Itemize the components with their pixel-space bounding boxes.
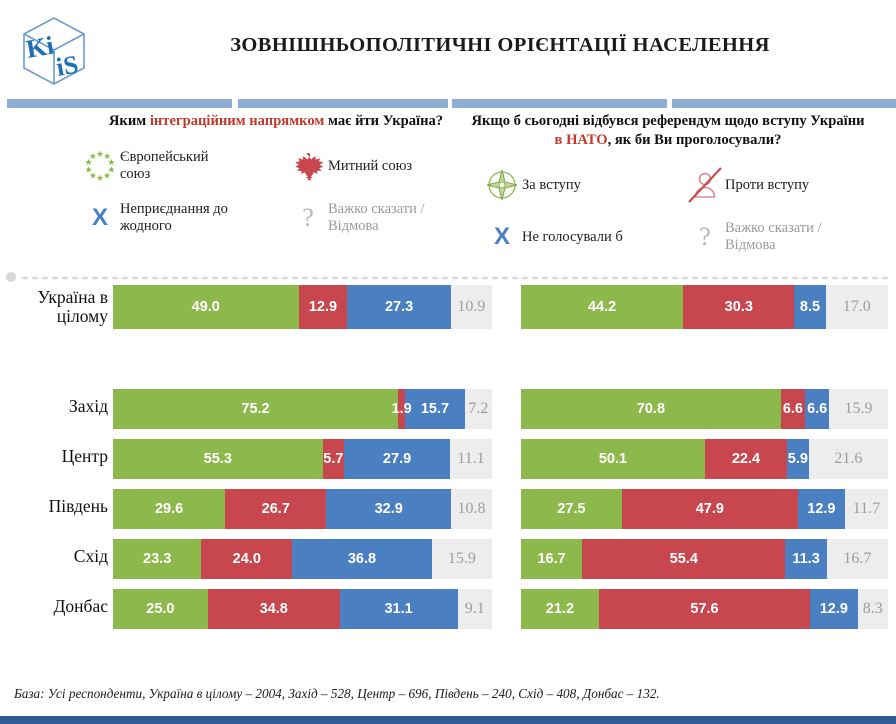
bar-value-label: 11.1 bbox=[457, 450, 484, 468]
bar-value-label: 57.6 bbox=[690, 601, 718, 617]
bar-segment-blue: 5.9 bbox=[787, 439, 809, 479]
bar-value-label: 17.0 bbox=[843, 298, 871, 316]
bar-value-label: 55.3 bbox=[204, 451, 232, 467]
bar-value-label: 10.8 bbox=[458, 500, 486, 518]
bar-segment-gray: 7.2 bbox=[465, 389, 492, 429]
bar-value-label: 34.8 bbox=[260, 601, 288, 617]
bar-segment-red: 12.9 bbox=[299, 285, 348, 329]
legend-label: За вступу bbox=[522, 177, 581, 194]
bar-segment-red: 6.6 bbox=[781, 389, 805, 429]
bar-segment-red: 47.9 bbox=[622, 489, 798, 529]
bar-segment-blue: 31.1 bbox=[340, 589, 458, 629]
bar-value-label: 55.4 bbox=[670, 551, 698, 567]
bar-segment-red: 24.0 bbox=[201, 539, 292, 579]
bar-segment-red: 30.3 bbox=[683, 285, 794, 329]
svg-text:iS: iS bbox=[54, 50, 80, 82]
legend-item-x-mark: XНеприєднання до жодного bbox=[80, 197, 288, 239]
x-mark-icon: X bbox=[482, 216, 522, 258]
band-segment-4 bbox=[672, 99, 896, 108]
legend-item-x-mark: XНе голосували б bbox=[482, 216, 685, 258]
bar-segment-blue: 27.3 bbox=[347, 285, 450, 329]
bar-segment-gray: 9.1 bbox=[458, 589, 492, 629]
bar-value-label: 47.9 bbox=[696, 501, 724, 517]
stacked-bar-right: 21.257.612.98.3 bbox=[521, 589, 888, 629]
bar-value-label: 11.3 bbox=[792, 551, 819, 567]
bar-segment-blue: 12.9 bbox=[810, 589, 857, 629]
bar-segment-blue: 27.9 bbox=[344, 439, 450, 479]
bar-value-label: 1.9 bbox=[392, 401, 412, 417]
bar-value-label: 27.3 bbox=[385, 299, 413, 315]
bar-value-label: 21.6 bbox=[834, 450, 862, 468]
bar-value-label: 5.9 bbox=[788, 451, 808, 467]
russian-eagle-icon bbox=[288, 145, 328, 187]
bar-value-label: 27.5 bbox=[557, 501, 585, 517]
bar-segment-red: 55.4 bbox=[582, 539, 785, 579]
bar-segment-blue: 6.6 bbox=[805, 389, 829, 429]
bar-segment-green: 50.1 bbox=[521, 439, 705, 479]
legend-label: Неприєднання до жодного bbox=[120, 201, 240, 235]
bar-segment-gray: 11.1 bbox=[450, 439, 492, 479]
bar-segment-green: 21.2 bbox=[521, 589, 599, 629]
band-segment-2 bbox=[238, 99, 448, 108]
bar-segment-green: 55.3 bbox=[113, 439, 323, 479]
bar-value-label: 15.7 bbox=[421, 401, 449, 417]
row-label: Донбас bbox=[0, 597, 108, 616]
legend-nato: За вступуПроти вступуXНе голосували б?Ва… bbox=[448, 164, 888, 258]
legend-integration: Європейський союзМитний союзXНеприєднанн… bbox=[56, 145, 496, 239]
bar-value-label: 75.2 bbox=[241, 401, 269, 417]
bar-segment-red: 26.7 bbox=[225, 489, 326, 529]
divider-dots bbox=[20, 276, 890, 280]
bar-value-label: 22.4 bbox=[732, 451, 760, 467]
bar-value-label: 10.9 bbox=[457, 298, 485, 316]
row-label: Південь bbox=[0, 497, 108, 516]
legend-item-nato-compass: За вступу bbox=[482, 164, 685, 206]
stacked-bar-right: 27.547.912.911.7 bbox=[521, 489, 888, 529]
bar-segment-red: 34.8 bbox=[208, 589, 340, 629]
bar-segment-gray: 8.3 bbox=[858, 589, 888, 629]
question-plain-2: має йти Україна? bbox=[324, 113, 443, 129]
decorative-band bbox=[0, 99, 896, 108]
bar-value-label: 32.9 bbox=[375, 501, 403, 517]
page-header: Ki iS ЗОВНІШНЬОПОЛІТИЧНІ ОРІЄНТАЦІЇ НАСЕ… bbox=[0, 0, 896, 96]
legend-label: Проти вступу bbox=[725, 177, 809, 194]
x-mark-icon: X bbox=[80, 197, 120, 239]
bar-segment-red: 1.9 bbox=[398, 389, 405, 429]
bar-value-label: 12.9 bbox=[309, 299, 337, 315]
eu-stars-icon bbox=[80, 145, 120, 187]
chart-row: Донбас25.034.831.19.121.257.612.98.3 bbox=[0, 584, 896, 634]
stacked-bar-left: 29.626.732.910.8 bbox=[113, 489, 492, 529]
bar-value-label: 29.6 bbox=[155, 501, 183, 517]
legend-label: Не голосували б bbox=[522, 229, 623, 246]
bar-segment-red: 5.7 bbox=[323, 439, 345, 479]
row-label: Центр bbox=[0, 447, 108, 466]
chart-row: Захід75.21.915.77.270.86.66.615.9 bbox=[0, 384, 896, 434]
bar-segment-green: 27.5 bbox=[521, 489, 622, 529]
legend-label: Європейський союз bbox=[120, 149, 240, 183]
question-highlight: в НАТО bbox=[555, 132, 608, 148]
question-mark-icon: ? bbox=[685, 216, 725, 258]
chart-row: Схід23.324.036.815.916.755.411.316.7 bbox=[0, 534, 896, 584]
bar-segment-gray: 15.9 bbox=[829, 389, 887, 429]
bar-segment-green: 49.0 bbox=[113, 285, 299, 329]
bar-value-label: 16.7 bbox=[537, 551, 565, 567]
bar-segment-gray: 21.6 bbox=[809, 439, 888, 479]
footnote: База: Усі респонденти, Україна в цілому … bbox=[14, 686, 884, 702]
bar-value-label: 36.8 bbox=[348, 551, 376, 567]
question-highlight: інтеграційним напрямком bbox=[150, 113, 324, 129]
bottom-bar bbox=[0, 716, 896, 724]
bar-value-label: 27.9 bbox=[383, 451, 411, 467]
legend-label: Важко сказати / Відмова bbox=[725, 220, 845, 254]
bar-value-label: 12.9 bbox=[820, 601, 848, 617]
stacked-bar-right: 44.230.38.517.0 bbox=[521, 285, 888, 329]
row-label: Схід bbox=[0, 547, 108, 566]
bar-segment-red: 22.4 bbox=[705, 439, 787, 479]
bar-value-label: 15.9 bbox=[448, 550, 476, 568]
bar-value-label: 23.3 bbox=[143, 551, 171, 567]
legend-item-eu-stars: Європейський союз bbox=[80, 145, 288, 187]
bar-value-label: 8.3 bbox=[863, 600, 883, 618]
bar-segment-green: 44.2 bbox=[521, 285, 683, 329]
bar-segment-gray: 10.9 bbox=[451, 285, 492, 329]
bar-segment-green: 16.7 bbox=[521, 539, 582, 579]
bar-value-label: 31.1 bbox=[384, 601, 412, 617]
bar-segment-green: 75.2 bbox=[113, 389, 398, 429]
row-spacer bbox=[0, 334, 896, 384]
bar-segment-blue: 12.9 bbox=[798, 489, 845, 529]
crossed-out-person-icon bbox=[685, 164, 725, 206]
bar-value-label: 49.0 bbox=[192, 299, 220, 315]
kiis-logo: Ki iS bbox=[12, 14, 96, 88]
page-title: ЗОВНІШНЬОПОЛІТИЧНІ ОРІЄНТАЦІЇ НАСЕЛЕННЯ bbox=[150, 34, 850, 57]
bar-segment-blue: 32.9 bbox=[326, 489, 451, 529]
chart-row: Центр55.35.727.911.150.122.45.921.6 bbox=[0, 434, 896, 484]
stacked-bar-left: 55.35.727.911.1 bbox=[113, 439, 492, 479]
question-plain-0: Якщо б сьогодні відбувся референдум щодо… bbox=[471, 113, 864, 129]
bar-segment-green: 25.0 bbox=[113, 589, 208, 629]
bar-value-label: 8.5 bbox=[800, 299, 820, 315]
bar-value-label: 26.7 bbox=[262, 501, 290, 517]
bar-segment-green: 70.8 bbox=[521, 389, 781, 429]
row-label: Україна в цілому bbox=[0, 288, 108, 326]
band-segment-1 bbox=[7, 99, 232, 108]
bar-segment-gray: 16.7 bbox=[827, 539, 888, 579]
bar-segment-gray: 11.7 bbox=[845, 489, 888, 529]
bar-segment-gray: 15.9 bbox=[432, 539, 492, 579]
bar-value-label: 5.7 bbox=[323, 451, 343, 467]
chart-area: Україна в цілому49.012.927.310.944.230.3… bbox=[0, 282, 896, 634]
question-plain-2: , як би Ви проголосували? bbox=[608, 132, 782, 148]
section-divider bbox=[6, 272, 890, 282]
panel-nato: Якщо б сьогодні відбувся референдум щодо… bbox=[448, 112, 888, 258]
chart-row: Україна в цілому49.012.927.310.944.230.3… bbox=[0, 282, 896, 334]
stacked-bar-left: 23.324.036.815.9 bbox=[113, 539, 492, 579]
bar-segment-green: 29.6 bbox=[113, 489, 225, 529]
bar-segment-green: 23.3 bbox=[113, 539, 201, 579]
row-label: Захід bbox=[0, 397, 108, 416]
nato-compass-icon bbox=[482, 164, 522, 206]
bar-value-label: 30.3 bbox=[725, 299, 753, 315]
legend-item-question-mark: ?Важко сказати / Відмова bbox=[685, 216, 888, 258]
stacked-bar-right: 50.122.45.921.6 bbox=[521, 439, 888, 479]
bar-segment-gray: 10.8 bbox=[451, 489, 492, 529]
stacked-bar-left: 75.21.915.77.2 bbox=[113, 389, 492, 429]
legend-label: Митний союз bbox=[328, 158, 412, 175]
stacked-bar-right: 70.86.66.615.9 bbox=[521, 389, 888, 429]
question-text-nato: Якщо б сьогодні відбувся референдум щодо… bbox=[448, 112, 888, 150]
bar-value-label: 24.0 bbox=[233, 551, 261, 567]
question-mark-icon: ? bbox=[288, 197, 328, 239]
bar-value-label: 7.2 bbox=[468, 400, 488, 418]
stacked-bar-right: 16.755.411.316.7 bbox=[521, 539, 888, 579]
bar-value-label: 21.2 bbox=[546, 601, 574, 617]
bar-value-label: 12.9 bbox=[807, 501, 835, 517]
bar-value-label: 11.7 bbox=[853, 500, 880, 518]
bar-value-label: 6.6 bbox=[807, 401, 827, 417]
legend-item-crossed-out-person: Проти вступу bbox=[685, 164, 888, 206]
panel-integration: Яким інтеграційним напрямком має йти Укр… bbox=[56, 112, 496, 239]
bar-segment-blue: 8.5 bbox=[794, 285, 825, 329]
svg-text:Ki: Ki bbox=[24, 31, 56, 64]
question-plain-0: Яким bbox=[109, 113, 150, 129]
bar-segment-gray: 17.0 bbox=[826, 285, 888, 329]
bar-segment-blue: 11.3 bbox=[785, 539, 826, 579]
stacked-bar-left: 49.012.927.310.9 bbox=[113, 285, 492, 329]
bar-value-label: 44.2 bbox=[588, 299, 616, 315]
bar-value-label: 25.0 bbox=[146, 601, 174, 617]
bar-value-label: 50.1 bbox=[599, 451, 627, 467]
chart-row: Південь29.626.732.910.827.547.912.911.7 bbox=[0, 484, 896, 534]
stacked-bar-left: 25.034.831.19.1 bbox=[113, 589, 492, 629]
question-text-integration: Яким інтеграційним напрямком має йти Укр… bbox=[56, 112, 496, 131]
bar-value-label: 70.8 bbox=[637, 401, 665, 417]
legend-label: Важко сказати / Відмова bbox=[328, 201, 448, 235]
bar-segment-blue: 15.7 bbox=[405, 389, 465, 429]
bar-segment-red: 57.6 bbox=[599, 589, 810, 629]
band-segment-3 bbox=[452, 99, 667, 108]
bar-value-label: 6.6 bbox=[783, 401, 803, 417]
bar-value-label: 16.7 bbox=[843, 550, 871, 568]
bar-segment-blue: 36.8 bbox=[292, 539, 431, 579]
question-panels: Яким інтеграційним напрямком має йти Укр… bbox=[0, 112, 896, 267]
bar-value-label: 15.9 bbox=[844, 400, 872, 418]
bar-value-label: 9.1 bbox=[465, 600, 485, 618]
divider-dot bbox=[6, 272, 16, 282]
